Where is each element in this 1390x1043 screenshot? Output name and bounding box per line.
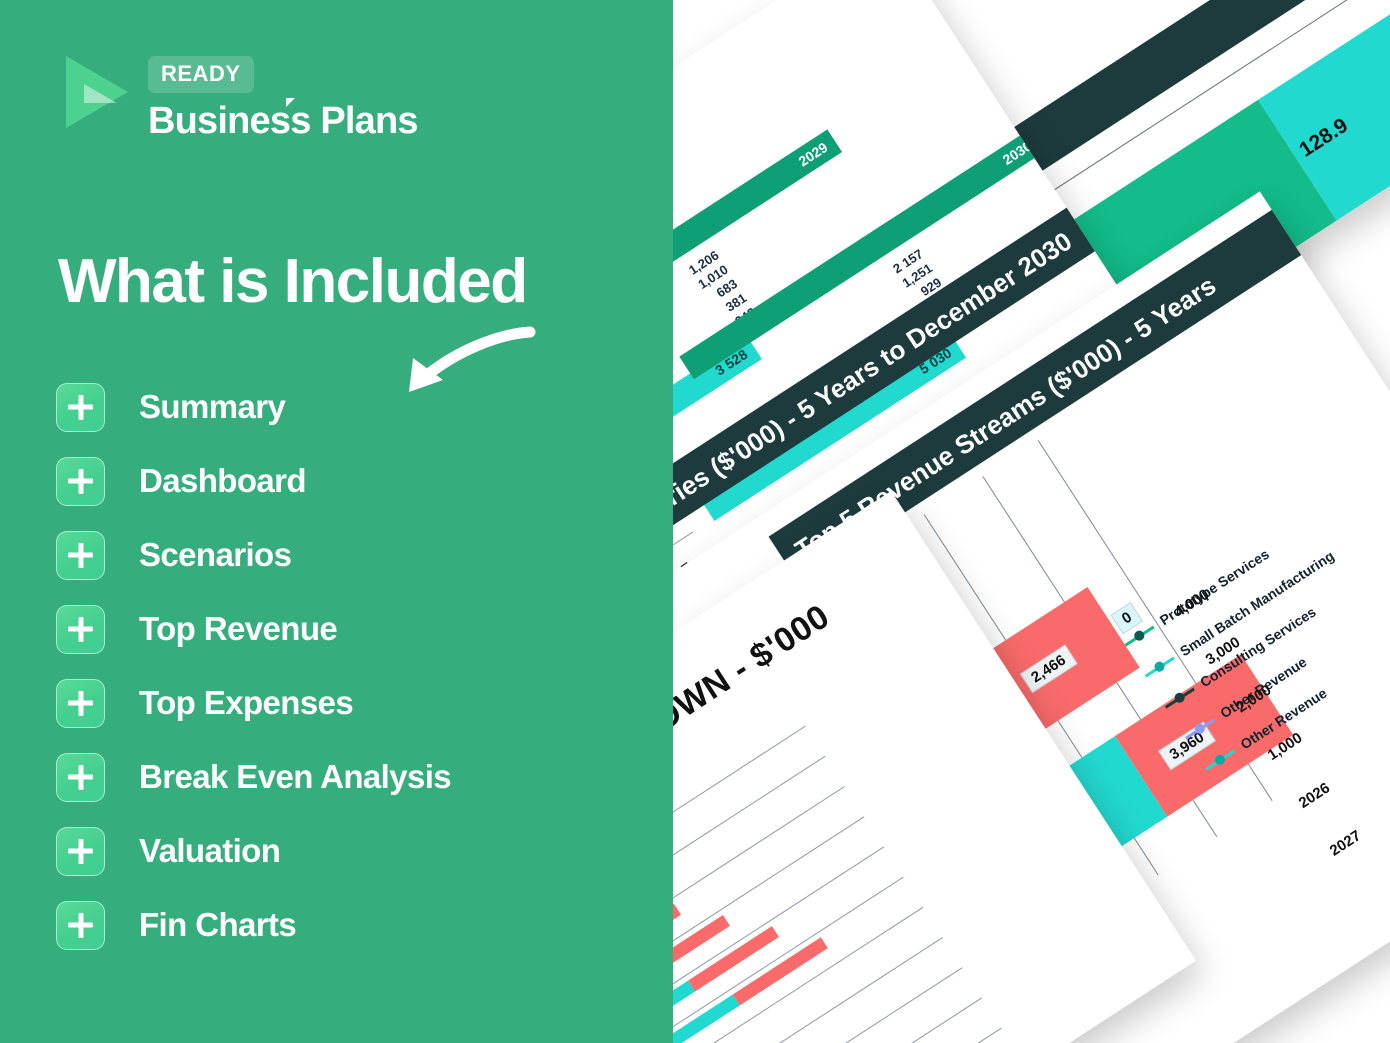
brand-logo[interactable]: READY Business Plans xyxy=(62,54,418,143)
plus-icon xyxy=(56,457,105,506)
plus-icon xyxy=(56,383,105,432)
triangle-accent-icon xyxy=(286,98,295,107)
feature-item-dashboard[interactable]: Dashboard xyxy=(56,457,616,505)
promo-graphic: Company Name Table of Contents 128.9 202… xyxy=(0,0,1390,1043)
feature-item-scenarios[interactable]: Scenarios xyxy=(56,531,616,579)
brand-text: READY Business Plans xyxy=(148,54,418,143)
left-green-panel: READY Business Plans What is Included Su… xyxy=(0,0,673,1043)
feature-label: Valuation xyxy=(139,832,280,870)
feature-item-fin-charts[interactable]: Fin Charts xyxy=(56,901,616,949)
feature-label: Top Expenses xyxy=(139,684,353,722)
axis-tick: 3,000 xyxy=(1203,634,1244,669)
brand-name-text: Business Plans xyxy=(148,100,418,142)
feature-item-summary[interactable]: Summary xyxy=(56,383,616,431)
feature-label: Break Even Analysis xyxy=(139,758,451,796)
feature-label: Scenarios xyxy=(139,536,291,574)
feature-item-break-even-analysis[interactable]: Break Even Analysis xyxy=(56,753,616,801)
feature-item-top-expenses[interactable]: Top Expenses xyxy=(56,679,616,727)
page-title: What is Included xyxy=(58,246,527,317)
breakdown-plot-area: Jan-27 Feb-27 Mar-27 Apr-27 $'0 xyxy=(673,726,1018,1043)
plus-icon xyxy=(56,531,105,580)
plus-icon xyxy=(56,679,105,728)
feature-label: Fin Charts xyxy=(139,906,296,944)
plus-icon xyxy=(56,753,105,802)
plus-icon xyxy=(56,901,105,950)
brand-name: Business Plans xyxy=(148,100,418,143)
feature-label: Dashboard xyxy=(139,462,306,500)
feature-label: Top Revenue xyxy=(139,610,337,648)
feature-label: Summary xyxy=(139,388,285,426)
play-triangle-icon xyxy=(62,54,136,128)
plus-icon xyxy=(56,605,105,654)
axis-tick: 1,000 xyxy=(1265,729,1306,764)
included-features-list: Summary Dashboard Scenarios Top Revenue … xyxy=(56,383,616,975)
feature-item-valuation[interactable]: Valuation xyxy=(56,827,616,875)
axis-tick: 2,000 xyxy=(1234,682,1275,717)
axis-year-tick: 2026 xyxy=(1296,777,1337,812)
feature-item-top-revenue[interactable]: Top Revenue xyxy=(56,605,616,653)
spreadsheet-mockup-area: Company Name Table of Contents 128.9 202… xyxy=(673,0,1390,1043)
plus-icon xyxy=(56,827,105,876)
ready-badge: READY xyxy=(148,56,254,93)
axis-year-tick: 2027 xyxy=(1327,825,1368,860)
